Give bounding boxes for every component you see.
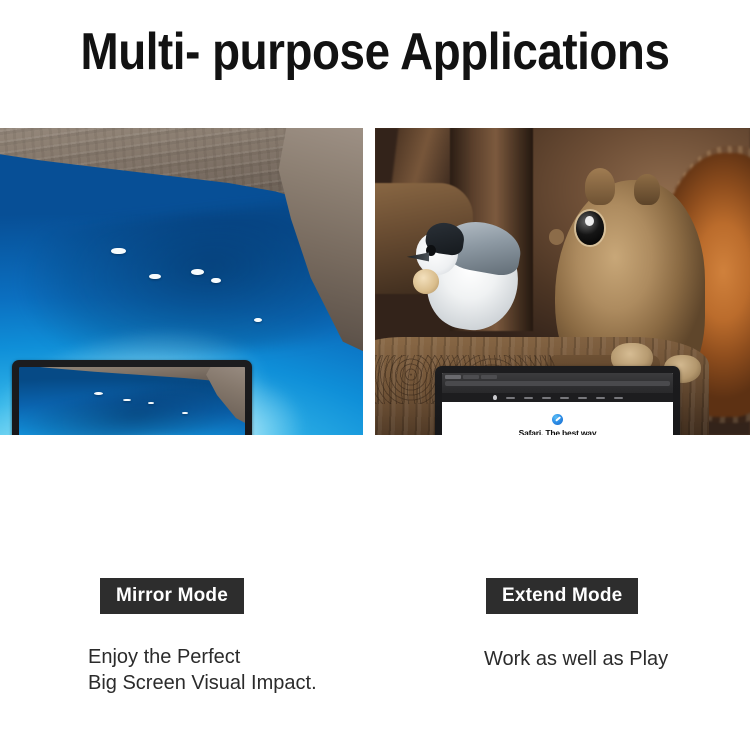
macbook-screen <box>19 367 245 435</box>
nav-item[interactable] <box>596 397 605 399</box>
boat <box>254 318 262 322</box>
safari-tab-strip[interactable] <box>445 375 497 379</box>
nav-item[interactable] <box>542 397 551 399</box>
boat <box>149 274 161 279</box>
safari-compass-icon <box>552 414 563 425</box>
safari-tab[interactable] <box>481 375 497 379</box>
apple-logo-icon[interactable] <box>493 395 497 400</box>
nav-item[interactable] <box>578 397 587 399</box>
badge-mirror-mode: Mirror Mode <box>100 578 244 614</box>
macbook-lid: Safari. The best way to see the sites. <box>435 366 680 435</box>
nav-item[interactable] <box>614 397 623 399</box>
squirrel-nose <box>549 229 564 244</box>
caption-extend-mode: Work as well as Play <box>484 646 668 672</box>
macbook-screen: Safari. The best way to see the sites. <box>442 373 673 435</box>
macbook-lid: MacBook Pro <box>12 360 252 435</box>
seed <box>413 269 439 294</box>
nav-item[interactable] <box>506 397 515 399</box>
safari-tab[interactable] <box>463 375 479 379</box>
macbook-extend: Safari. The best way to see the sites. <box>435 366 680 435</box>
screen-boat <box>123 399 131 401</box>
safari-headline-line1: Safari. The best way <box>442 428 673 435</box>
safari-page-content: Safari. The best way to see the sites. <box>442 402 673 435</box>
panel-extend-mode: Safari. The best way to see the sites. <box>375 128 750 435</box>
page-title: Multi- purpose Applications <box>45 22 705 82</box>
caption-mirror-mode: Enjoy the Perfect Big Screen Visual Impa… <box>88 644 317 697</box>
safari-window: Safari. The best way to see the sites. <box>442 373 673 435</box>
promo-page: Multi- purpose Applications <box>0 0 750 750</box>
nav-item[interactable] <box>560 397 569 399</box>
screen-boat <box>182 412 188 414</box>
screen-boat <box>94 392 103 395</box>
panel-row: MacBook Pro <box>0 128 750 438</box>
panel-mirror-mode: MacBook Pro <box>0 128 363 435</box>
safari-address-bar[interactable] <box>445 381 670 386</box>
badge-extend-mode: Extend Mode <box>486 578 638 614</box>
screen-mirrored-beach <box>19 367 245 435</box>
nav-item[interactable] <box>524 397 533 399</box>
safari-tab[interactable] <box>445 375 461 379</box>
safari-headline: Safari. The best way to see the sites. <box>442 428 673 435</box>
safari-toolbar <box>442 373 673 402</box>
boat <box>111 248 126 254</box>
squirrel-ear-right <box>634 174 660 205</box>
boat <box>191 269 204 275</box>
apple-nav-bar[interactable] <box>442 393 673 402</box>
macbook-mirror: MacBook Pro <box>12 360 252 435</box>
